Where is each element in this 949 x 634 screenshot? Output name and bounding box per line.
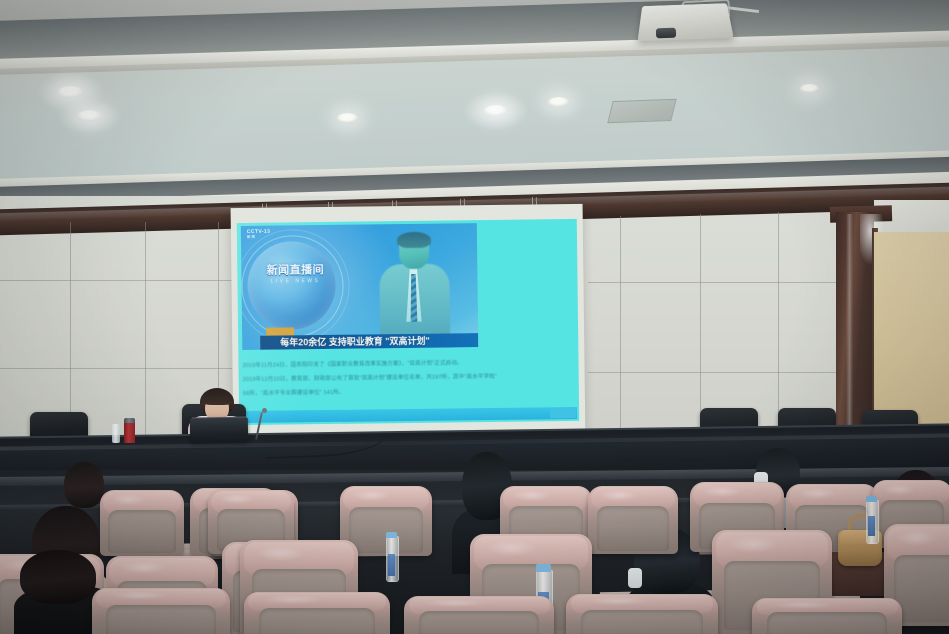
downlight-icon — [484, 105, 508, 116]
seat-cushion — [106, 605, 216, 634]
auditorium-seat — [92, 588, 230, 634]
program-logo: 新闻直播间 LIVE NEWS — [255, 261, 335, 285]
program-name-en: LIVE NEWS — [255, 278, 335, 285]
seat-highlight — [264, 595, 322, 604]
auditorium-seat — [588, 486, 678, 554]
seat-highlight — [513, 490, 550, 501]
slide-text-line: 56所，"高水平专业群建设单位" 141所。 — [243, 388, 345, 397]
seat-cushion — [597, 506, 669, 551]
program-name-cn: 新闻直播间 — [255, 261, 335, 278]
downlight-icon — [800, 84, 820, 93]
slide-text-line: 2019年11月24日，国务院印发了《国家职业教育改革实施方案》，"双高计划"正… — [242, 358, 462, 369]
seat-highlight — [883, 484, 915, 495]
seat-highlight — [425, 599, 485, 607]
news-anchor-figure — [373, 231, 454, 350]
thermos-icon — [124, 421, 135, 443]
person-head — [64, 462, 104, 508]
anchor-hair — [397, 232, 431, 248]
slide-footer-bar — [241, 407, 577, 423]
wall-panel-seam — [145, 222, 146, 454]
bottle-cap — [386, 532, 397, 538]
projector-lens-icon — [656, 28, 676, 39]
thermos-cap — [124, 418, 135, 423]
bottle-cap — [536, 564, 551, 572]
auditorium-seat — [244, 592, 390, 634]
downlight-icon — [548, 97, 570, 107]
microphone-icon — [262, 408, 267, 413]
auditorium-seat — [566, 594, 718, 634]
slide-footer-accent — [550, 408, 576, 418]
presenter-fringe — [202, 393, 233, 405]
downlight-icon — [78, 110, 102, 121]
seat-cushion — [419, 611, 539, 634]
embedded-news-video: CCTV-13 新闻 CCTV 新闻 新闻直播间 LIVE NEWS 每年20余… — [241, 223, 478, 350]
face-mask-icon — [628, 568, 642, 588]
seat-highlight — [257, 546, 304, 561]
seat-highlight — [729, 536, 777, 553]
projected-slide: CCTV-13 新闻 CCTV 新闻 新闻直播间 LIVE NEWS 每年20余… — [237, 219, 579, 425]
seat-cushion — [767, 612, 887, 634]
seat-cushion — [581, 610, 703, 634]
wall-panel-seam — [0, 368, 232, 369]
bottle-label — [388, 554, 395, 576]
laptop-icon — [190, 417, 248, 442]
cctv-channel-sub: 新闻 — [247, 235, 270, 240]
ceiling-projector — [638, 3, 734, 41]
cctv-channel-logo: CCTV-13 新闻 — [247, 229, 271, 240]
lecture-hall-photo: CCTV-13 新闻 CCTV 新闻 新闻直播间 LIVE NEWS 每年20余… — [0, 0, 949, 634]
seat-highlight — [773, 601, 833, 609]
seat-cushion — [108, 510, 175, 554]
wall-panel-seam — [588, 282, 838, 283]
bottle-label — [868, 516, 875, 536]
pillar-gloss-highlight — [846, 214, 853, 460]
wall-panel-seam — [588, 372, 838, 373]
auditorium-seat — [100, 490, 184, 556]
auditorium-seat — [404, 596, 554, 634]
downlight-icon — [337, 113, 359, 123]
water-bottle-icon — [112, 424, 120, 443]
seat-highlight — [487, 540, 536, 556]
hvac-vent-icon — [607, 99, 676, 123]
seat-cushion — [259, 608, 376, 634]
downlight-icon — [58, 86, 84, 98]
slide-text-line: 2019年12月10日，教育部、财政部公布了首批"双高计划"建设单位名单，共19… — [243, 372, 497, 383]
bottle-cap — [866, 496, 877, 502]
wall-panel-seam — [620, 216, 621, 462]
seat-highlight — [112, 494, 146, 505]
auditorium-seat — [752, 598, 902, 634]
seat-highlight — [601, 490, 637, 501]
seat-highlight — [122, 561, 167, 574]
person-head — [20, 550, 96, 604]
wall-panel-seam — [0, 280, 232, 281]
